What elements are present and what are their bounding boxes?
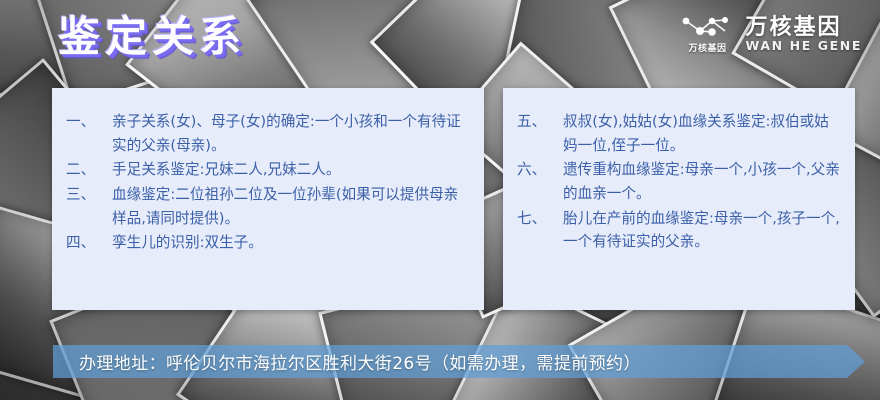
poster-canvas: 鉴定关系 — [0, 0, 880, 400]
list-item-text: 胎儿在产前的血缘鉴定:母亲一个,孩子一个,一个有待证实的父亲。 — [563, 207, 841, 254]
list-item-text: 孪生儿的识别:双生子。 — [112, 231, 470, 255]
list-item-number: 三、 — [66, 183, 112, 207]
list-item-text: 亲子关系(女)、母子(女)的确定:一个小孩和一个有待证实的父亲(母亲)。 — [112, 110, 470, 157]
list-item-text: 叔叔(女),姑姑(女)血缘关系鉴定:叔伯或姑妈一位,侄子一位。 — [563, 110, 841, 157]
list-item-number: 五、 — [517, 110, 563, 134]
list-item-number: 二、 — [66, 158, 112, 182]
page-title: 鉴定关系 — [58, 16, 246, 58]
logo-mark-label: 万核基因 — [689, 41, 727, 54]
service-list-panel-right: 五、 叔叔(女),姑姑(女)血缘关系鉴定:叔伯或姑妈一位,侄子一位。 六、 遗传… — [503, 88, 855, 310]
list-item-number: 一、 — [66, 110, 112, 134]
list-item-text: 手足关系鉴定:兄妹二人,兄妹二人。 — [112, 158, 470, 182]
logo-name-en: WAN HE GENE — [746, 39, 862, 52]
list-item: 三、 血缘鉴定:二位祖孙二位及一位孙辈(如果可以提供母亲样品,请同时提供)。 — [66, 183, 470, 230]
logo-name-cn: 万核基因 — [746, 16, 842, 39]
address-banner: 办理地址：呼伦贝尔市海拉尔区胜利大街26号（如需办理，需提前预约） — [53, 345, 865, 378]
list-item: 一、 亲子关系(女)、母子(女)的确定:一个小孩和一个有待证实的父亲(母亲)。 — [66, 110, 470, 157]
list-item-number: 七、 — [517, 207, 563, 231]
logo-mark: 万核基因 — [678, 14, 738, 54]
list-item-text: 血缘鉴定:二位祖孙二位及一位孙辈(如果可以提供母亲样品,请同时提供)。 — [112, 183, 470, 230]
list-item-number: 四、 — [66, 231, 112, 255]
logo-wordmark: 万核基因 WAN HE GENE — [746, 16, 862, 52]
list-item: 六、 遗传重构血缘鉴定:母亲一个,小孩一个,父亲的血亲一个。 — [517, 158, 841, 205]
list-item: 四、 孪生儿的识别:双生子。 — [66, 231, 470, 255]
list-item-number: 六、 — [517, 158, 563, 182]
brand-logo: 万核基因 万核基因 WAN HE GENE — [678, 14, 862, 54]
list-item: 七、 胎儿在产前的血缘鉴定:母亲一个,孩子一个,一个有待证实的父亲。 — [517, 207, 841, 254]
molecule-network-icon — [678, 14, 738, 40]
list-item-text: 遗传重构血缘鉴定:母亲一个,小孩一个,父亲的血亲一个。 — [563, 158, 841, 205]
service-list-panel-left: 一、 亲子关系(女)、母子(女)的确定:一个小孩和一个有待证实的父亲(母亲)。 … — [52, 88, 484, 310]
list-item: 二、 手足关系鉴定:兄妹二人,兄妹二人。 — [66, 158, 470, 182]
address-text: 办理地址：呼伦贝尔市海拉尔区胜利大街26号（如需办理，需提前预约） — [53, 349, 641, 374]
list-item: 五、 叔叔(女),姑姑(女)血缘关系鉴定:叔伯或姑妈一位,侄子一位。 — [517, 110, 841, 157]
panel-left-content: 一、 亲子关系(女)、母子(女)的确定:一个小孩和一个有待证实的父亲(母亲)。 … — [52, 88, 484, 255]
panel-right-content: 五、 叔叔(女),姑姑(女)血缘关系鉴定:叔伯或姑妈一位,侄子一位。 六、 遗传… — [503, 88, 855, 254]
